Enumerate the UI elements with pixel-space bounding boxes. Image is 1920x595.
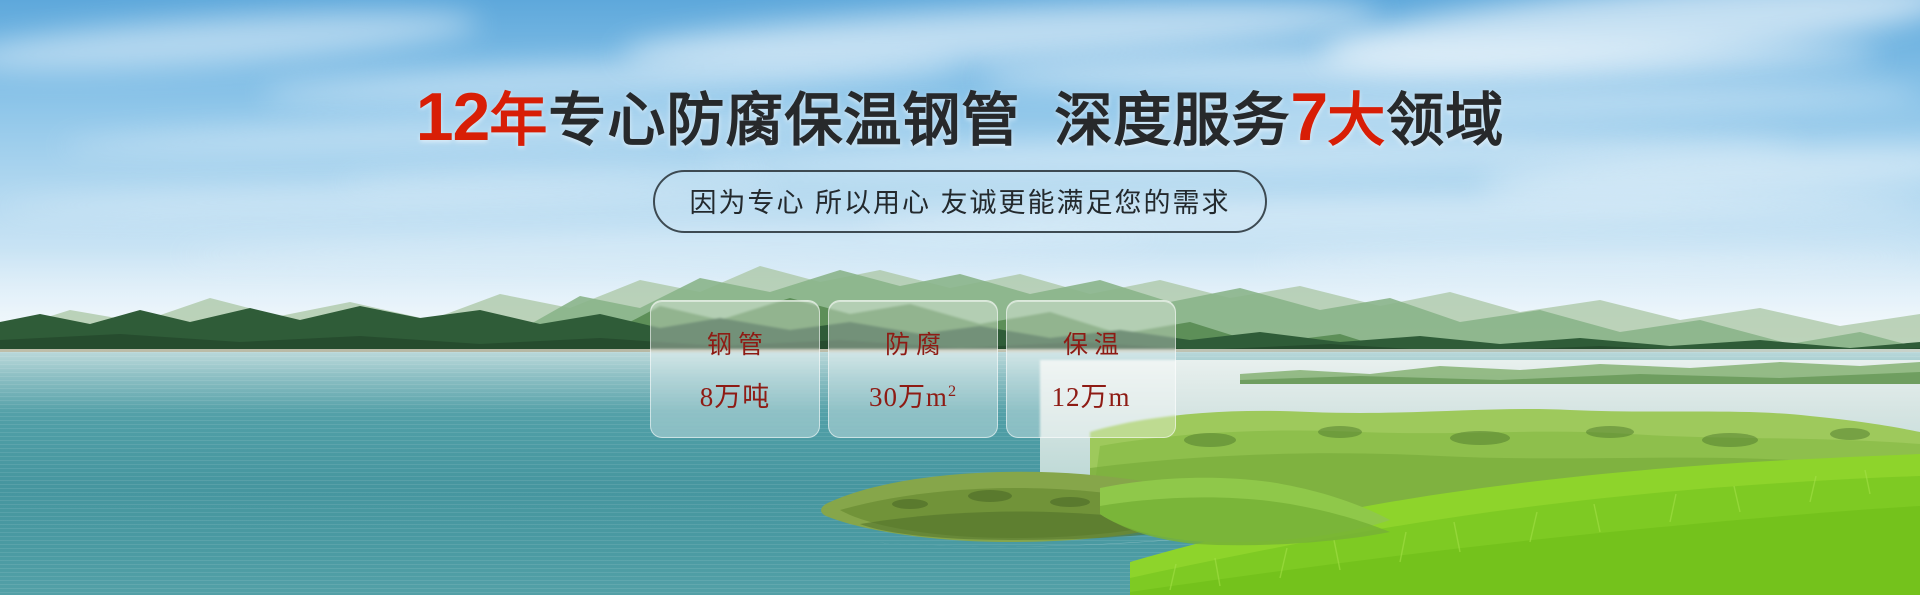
stat-card-value: 8万吨 (700, 375, 771, 414)
stat-card-value: 30万m2 (869, 375, 957, 414)
headline-service-text: 深度服务 (1054, 88, 1290, 153)
left-grass-bank (1100, 462, 1400, 582)
headline-years-unit: 年 (489, 88, 548, 153)
stat-card-label: 防腐 (879, 325, 947, 361)
stat-card-steel-pipe[interactable]: 钢管 8万吨 (650, 300, 820, 438)
stat-card-value-base: 30万m (869, 382, 948, 412)
stat-card-value-base: 12万m (1051, 382, 1130, 412)
headline-fields-number: 7 (1290, 79, 1327, 155)
subtitle-container: 因为专心 所以用心 友诚更能满足您的需求 (0, 170, 1920, 233)
hero-banner: 12年专心防腐保温钢管深度服务7大领域 因为专心 所以用心 友诚更能满足您的需求… (0, 0, 1920, 595)
stat-card-insulation[interactable]: 保温 12万m (1006, 300, 1176, 438)
stat-card-value-base: 8万吨 (700, 382, 771, 412)
headline-fields-unit: 大 (1327, 88, 1386, 153)
distant-shore (1240, 356, 1920, 384)
stat-card-value-superscript: 2 (948, 382, 957, 400)
stat-cards: 钢管 8万吨 防腐 30万m2 保温 12万m (650, 300, 1176, 438)
headline: 12年专心防腐保温钢管深度服务7大领域 (0, 86, 1920, 152)
headline-main-text: 专心防腐保温钢管 (548, 88, 1020, 153)
headline-fields-text: 领域 (1386, 88, 1504, 153)
stat-card-value: 12万m (1051, 375, 1130, 414)
subtitle-pill: 因为专心 所以用心 友诚更能满足您的需求 (653, 170, 1266, 233)
stat-card-label: 钢管 (701, 325, 769, 361)
stat-card-label: 保温 (1057, 325, 1125, 361)
stat-card-anticorrosion[interactable]: 防腐 30万m2 (828, 300, 998, 438)
headline-years-number: 12 (416, 79, 490, 155)
